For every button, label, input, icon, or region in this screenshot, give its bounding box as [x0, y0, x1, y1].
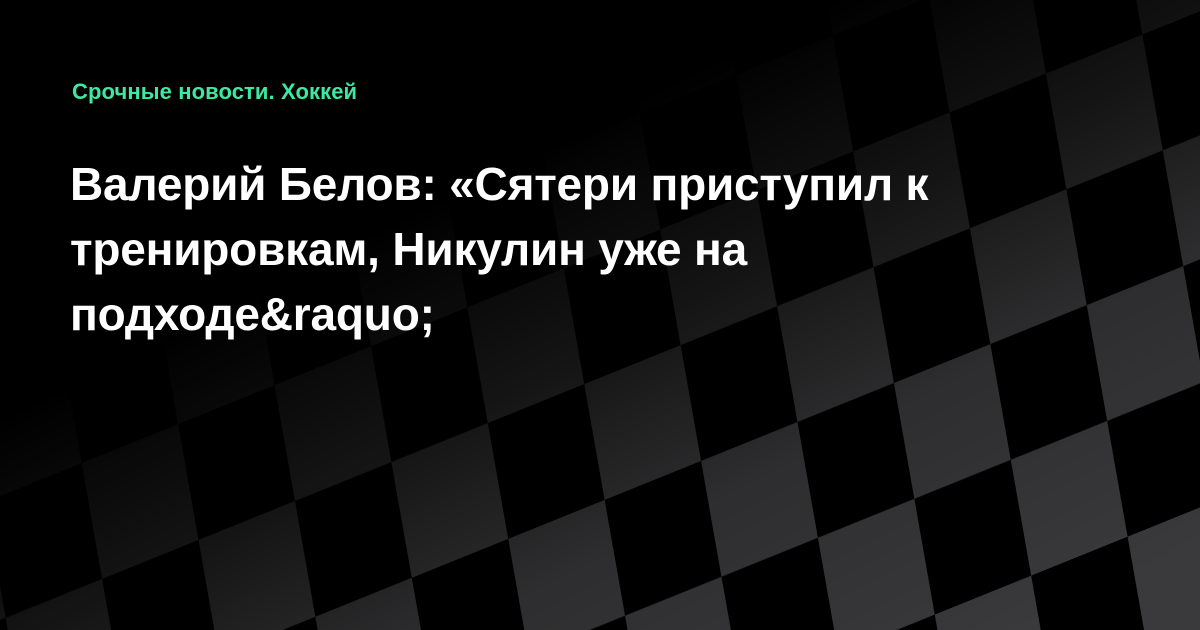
headline-line-2: тренировкам, Никулин уже на — [70, 217, 1030, 282]
headline-line-3: подходе&raquo; — [70, 282, 1030, 347]
headline-line-1: Валерий Белов: «Сятери приступил к — [70, 152, 1030, 217]
category-kicker: Срочные новости. Хоккей — [72, 78, 357, 106]
headline: Валерий Белов: «Сятери приступил к трени… — [70, 152, 1030, 347]
social-share-card: Срочные новости. Хоккей Валерий Белов: «… — [0, 0, 1200, 630]
